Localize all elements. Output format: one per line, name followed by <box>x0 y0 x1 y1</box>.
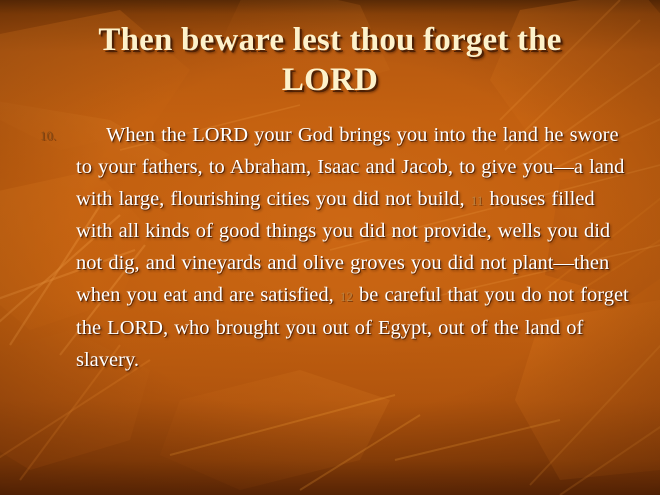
inline-verse-number: 11 <box>471 193 484 208</box>
slide-title-line-2: LORD <box>282 62 378 98</box>
slide-body: 10. When the LORD your God brings you in… <box>36 120 636 376</box>
inline-verse-number: 12 <box>340 289 353 304</box>
slide-title: Then beware lest thou forget the LORD <box>34 20 626 100</box>
slide-title-line-1: Then beware lest thou forget the <box>98 22 561 58</box>
scripture-passage: When the LORD your God brings you into t… <box>76 120 636 376</box>
verse-marker: 10. <box>40 128 56 144</box>
presentation-slide: Then beware lest thou forget the LORD 10… <box>0 0 660 495</box>
